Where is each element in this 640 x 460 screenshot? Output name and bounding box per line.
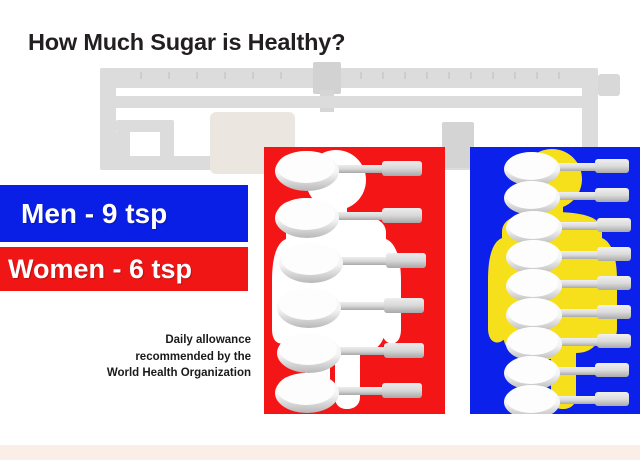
figure-silhouette-white <box>272 150 401 409</box>
banner-women: Women - 6 tsp <box>0 247 248 291</box>
bottom-strip <box>0 445 640 460</box>
panel-men-9-tsp <box>470 147 640 414</box>
panel-women-6-tsp <box>264 147 445 414</box>
caption-line-2: recommended by the <box>28 349 251 366</box>
banner-men-label: Men - 9 tsp <box>21 198 167 230</box>
caption-line-3: World Health Organization <box>28 365 251 382</box>
caption-block: Daily allowance recommended by the World… <box>28 332 251 382</box>
page-title: How Much Sugar is Healthy? <box>28 29 345 56</box>
banner-men: Men - 9 tsp <box>0 185 248 242</box>
caption-line-1: Daily allowance <box>28 332 251 349</box>
banner-women-label: Women - 6 tsp <box>8 254 192 285</box>
infographic-root: How Much Sugar is Healthy? Men - 9 tsp W… <box>0 0 640 460</box>
